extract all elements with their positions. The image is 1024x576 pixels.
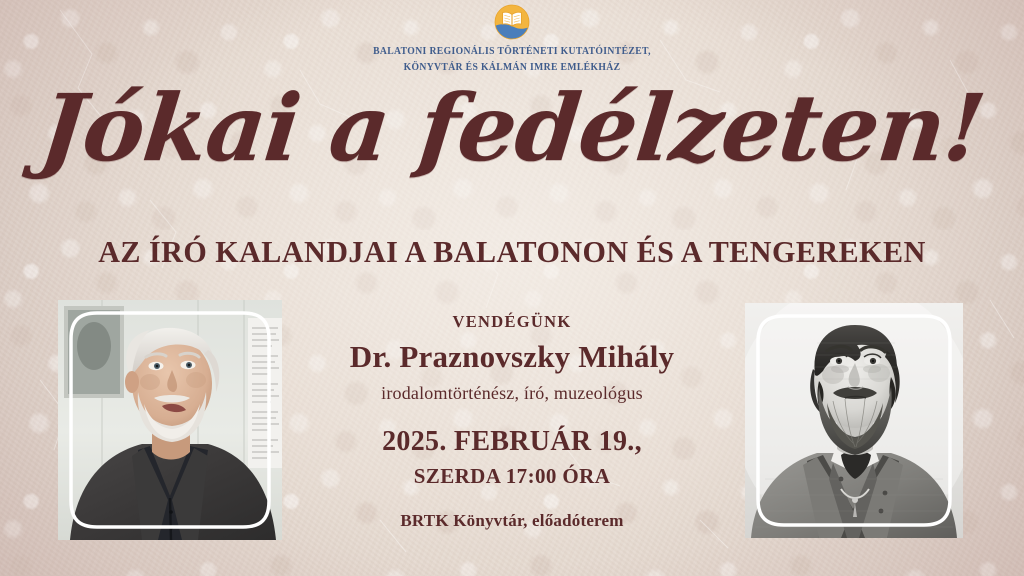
guest-label: VENDÉGÜNK: [302, 312, 722, 332]
event-poster: BALATONI REGIONÁLIS TÖRTÉNETI KUTATÓINTÉ…: [0, 0, 1024, 576]
title-area: Jókai a fedélzeten!: [0, 78, 1024, 179]
open-book-circle-logo-icon: [492, 2, 532, 42]
event-venue: BRTK Könyvtár, előadóterem: [302, 511, 722, 531]
photo-guest-speaker: [58, 300, 282, 540]
guest-speaker-image: [58, 300, 282, 540]
organisation-name: BALATONI REGIONÁLIS TÖRTÉNETI KUTATÓINTÉ…: [41, 44, 983, 76]
page-subtitle: AZ ÍRÓ KALANDJAI A BALATONON ÉS A TENGER…: [15, 234, 1008, 270]
header: BALATONI REGIONÁLIS TÖRTÉNETI KUTATÓINTÉ…: [0, 2, 1024, 76]
page-title: Jókai a fedélzeten!: [35, 78, 989, 179]
photo-jokai-portrait: [745, 303, 963, 538]
jokai-portrait-image: [745, 303, 963, 538]
guest-name: Dr. Praznovszky Mihály: [302, 339, 722, 375]
event-time: SZERDA 17:00 ÓRA: [302, 464, 722, 489]
event-date: 2025. FEBRUÁR 19.,: [302, 426, 722, 458]
event-details: VENDÉGÜNK Dr. Praznovszky Mihály irodalo…: [302, 312, 722, 531]
organisation-line-1: BALATONI REGIONÁLIS TÖRTÉNETI KUTATÓINTÉ…: [41, 44, 983, 60]
guest-role: irodalomtörténész, író, muzeológus: [302, 383, 722, 404]
